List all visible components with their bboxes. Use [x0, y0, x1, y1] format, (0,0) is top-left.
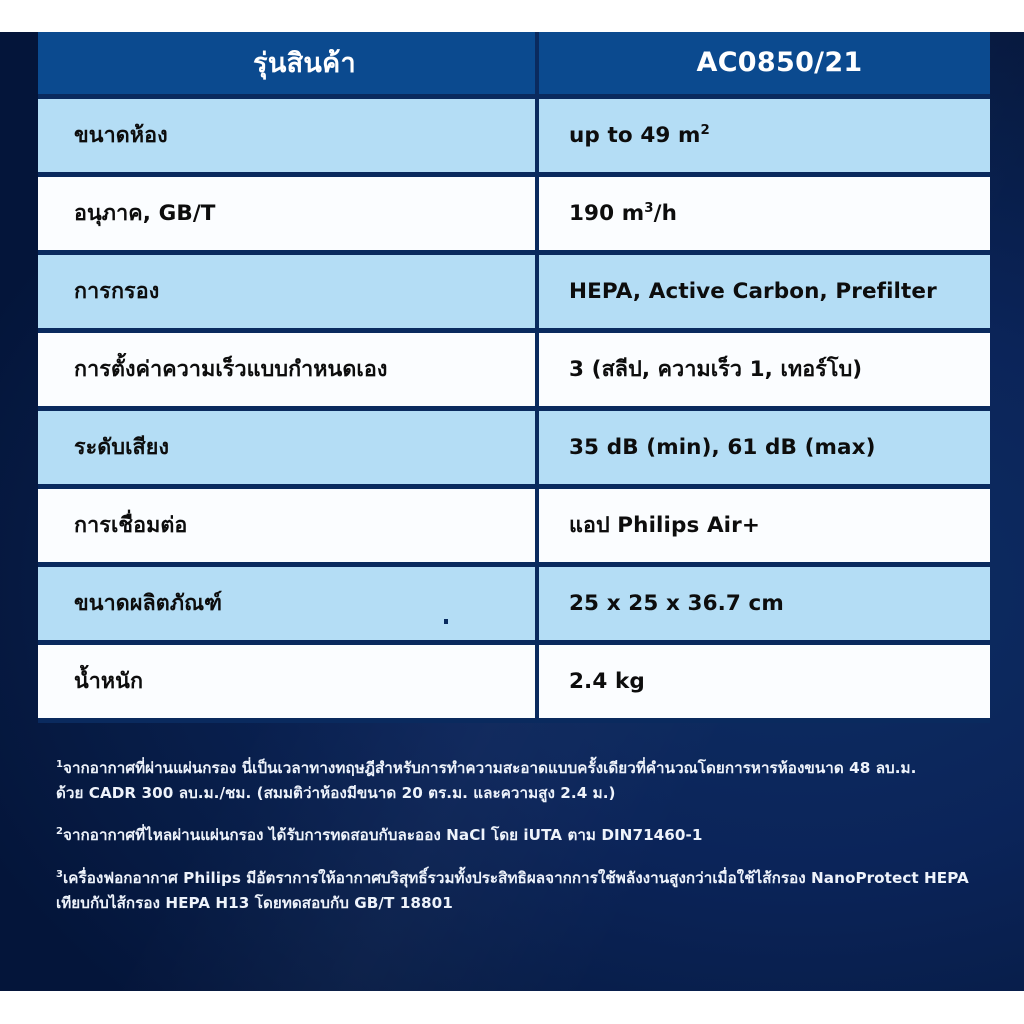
spec-value-cell: 35 dB (min), 61 dB (max)	[537, 408, 990, 486]
spec-value-cell: แอป Philips Air+	[537, 486, 990, 564]
spec-value-cell: 25 x 25 x 36.7 cm	[537, 564, 990, 642]
table-body: ขนาดห้องup to 49 m2อนุภาค, GB/T190 m3/hก…	[38, 96, 990, 720]
spec-value-text: 3 (สลีป, ความเร็ว 1, เทอร์โบ)	[569, 357, 862, 382]
stray-speck-artifact	[444, 619, 448, 624]
spec-value-text: 190 m	[569, 201, 644, 226]
spec-label-cell: การกรอง	[38, 252, 537, 330]
spec-value-superscript: 3	[644, 200, 653, 215]
footnote-line: 3เครื่องฟอกอากาศ Philips มีอัตราการให้อา…	[56, 866, 986, 891]
spec-value-suffix: /h	[654, 201, 677, 226]
footnote-text: จากอากาศที่ผ่านแผ่นกรอง นี่เป็นเวลาทางทฤ…	[63, 759, 916, 777]
footnote-line: 2จากอากาศที่ไหลผ่านแผ่นกรอง ได้รับการทดส…	[56, 823, 986, 848]
footnote: 3เครื่องฟอกอากาศ Philips มีอัตราการให้อา…	[56, 866, 986, 915]
table-row: ขนาดผลิตภัณฑ์25 x 25 x 36.7 cm	[38, 564, 990, 642]
table-row: การกรองHEPA, Active Carbon, Prefilter	[38, 252, 990, 330]
spec-value-cell: 3 (สลีป, ความเร็ว 1, เทอร์โบ)	[537, 330, 990, 408]
spec-value-text: HEPA, Active Carbon, Prefilter	[569, 279, 937, 304]
footnote-line: 1จากอากาศที่ผ่านแผ่นกรอง นี่เป็นเวลาทางท…	[56, 756, 986, 781]
spec-value-text: up to 49 m	[569, 123, 701, 148]
footnote: 2จากอากาศที่ไหลผ่านแผ่นกรอง ได้รับการทดส…	[56, 823, 986, 848]
spec-label-cell: ขนาดห้อง	[38, 96, 537, 174]
table-row: อนุภาค, GB/T190 m3/h	[38, 174, 990, 252]
spec-value-text: 35 dB (min), 61 dB (max)	[569, 435, 876, 460]
spec-value-superscript: 2	[701, 122, 710, 137]
footnote-line: เทียบกับไส้กรอง HEPA H13 โดยทดสอบกับ GB/…	[56, 891, 986, 916]
spec-value-cell: 2.4 kg	[537, 642, 990, 720]
table-row: การเชื่อมต่อแอป Philips Air+	[38, 486, 990, 564]
footnote-marker: 2	[56, 826, 63, 837]
spec-label-cell: น้ำหนัก	[38, 642, 537, 720]
spec-label-cell: ขนาดผลิตภัณฑ์	[38, 564, 537, 642]
spec-value-cell: up to 49 m2	[537, 96, 990, 174]
header-row: รุ่นสินค้า AC0850/21	[38, 32, 990, 96]
spec-label-cell: การเชื่อมต่อ	[38, 486, 537, 564]
spec-value-cell: 190 m3/h	[537, 174, 990, 252]
spec-label-cell: ระดับเสียง	[38, 408, 537, 486]
spec-value-text: 2.4 kg	[569, 669, 645, 694]
header-cell-model-label: รุ่นสินค้า	[38, 32, 537, 96]
table-row: การตั้งค่าความเร็วแบบกำหนดเอง3 (สลีป, คว…	[38, 330, 990, 408]
product-spec-page: รุ่นสินค้า AC0850/21 ขนาดห้องup to 49 m2…	[0, 0, 1024, 1024]
footnote-text: เครื่องฟอกอากาศ Philips มีอัตราการให้อาก…	[63, 869, 969, 887]
spec-value-text: แอป Philips Air+	[569, 513, 760, 538]
spec-value-text: 25 x 25 x 36.7 cm	[569, 591, 784, 616]
footnote-line: ด้วย CADR 300 ลบ.ม./ชม. (สมมติว่าห้องมีข…	[56, 781, 986, 806]
spec-value-cell: HEPA, Active Carbon, Prefilter	[537, 252, 990, 330]
footnote-text: จากอากาศที่ไหลผ่านแผ่นกรอง ได้รับการทดสอ…	[63, 826, 702, 844]
table-row: ขนาดห้องup to 49 m2	[38, 96, 990, 174]
footnotes-block: 1จากอากาศที่ผ่านแผ่นกรอง นี่เป็นเวลาทางท…	[56, 756, 986, 915]
footnote-marker: 1	[56, 759, 63, 770]
footnote-marker: 3	[56, 869, 63, 880]
spec-label-cell: การตั้งค่าความเร็วแบบกำหนดเอง	[38, 330, 537, 408]
spec-label-cell: อนุภาค, GB/T	[38, 174, 537, 252]
footnote: 1จากอากาศที่ผ่านแผ่นกรอง นี่เป็นเวลาทางท…	[56, 756, 986, 805]
specification-table: รุ่นสินค้า AC0850/21 ขนาดห้องup to 49 m2…	[38, 32, 990, 723]
table-row: น้ำหนัก2.4 kg	[38, 642, 990, 720]
table-row: ระดับเสียง35 dB (min), 61 dB (max)	[38, 408, 990, 486]
header-cell-model-value: AC0850/21	[537, 32, 990, 96]
table-header: รุ่นสินค้า AC0850/21	[38, 32, 990, 96]
